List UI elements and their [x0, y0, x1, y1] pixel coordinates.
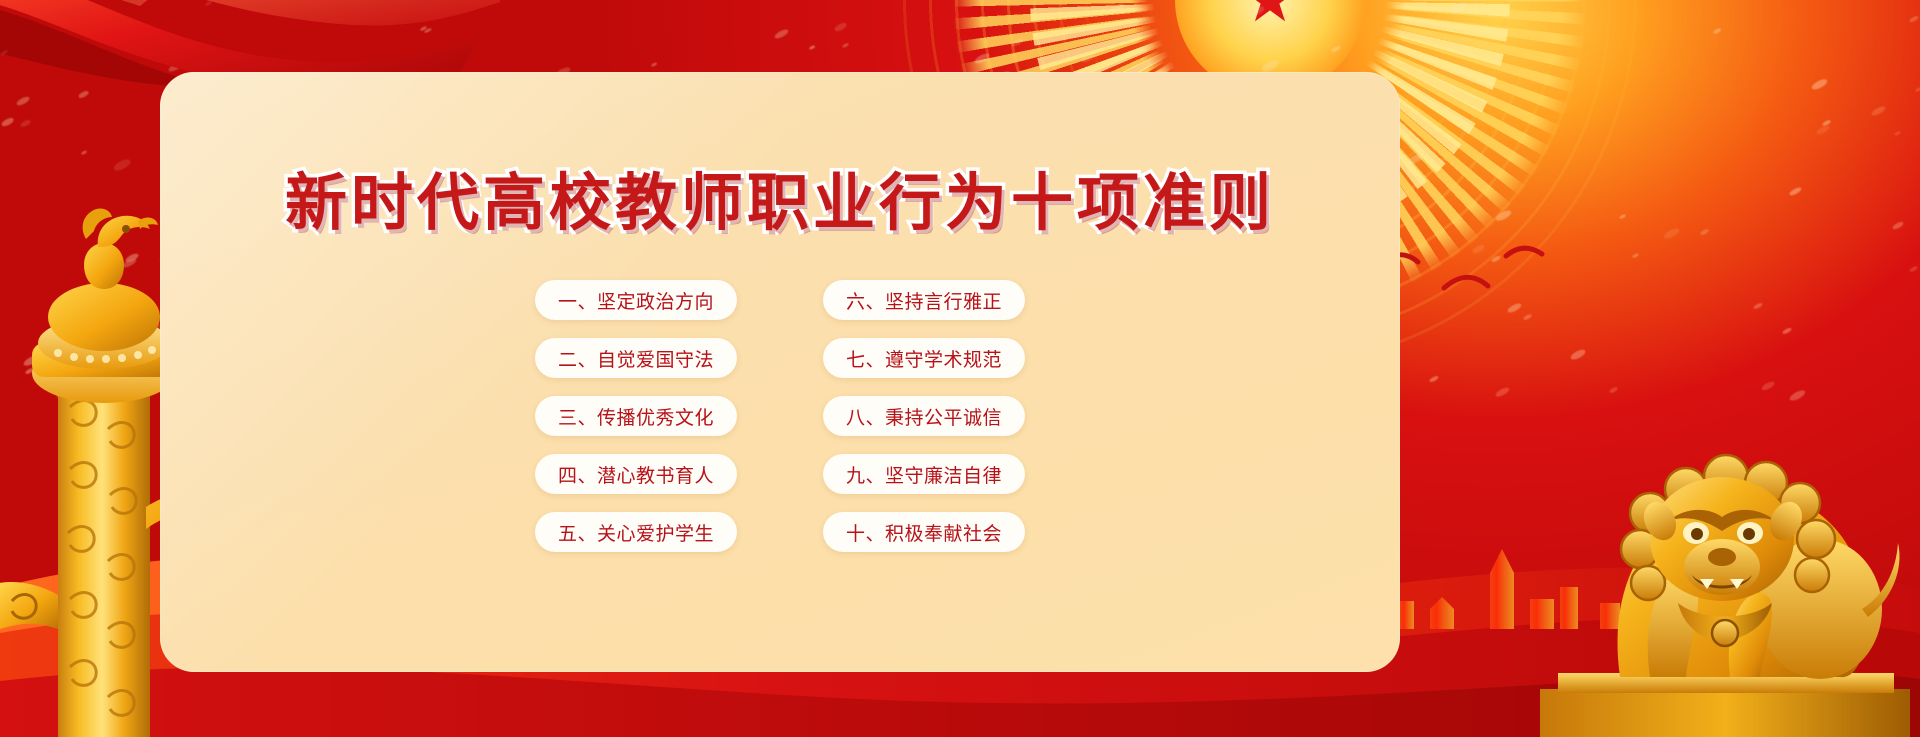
light-fleck — [774, 27, 790, 39]
light-fleck — [1782, 327, 1792, 335]
light-fleck — [1870, 105, 1886, 117]
light-fleck — [23, 353, 42, 368]
light-fleck — [1619, 213, 1627, 219]
light-fleck — [81, 150, 88, 155]
guideline-item-6[interactable]: 六、坚持言行雅正 — [823, 280, 1025, 320]
light-fleck — [1569, 348, 1587, 362]
light-fleck — [93, 10, 100, 15]
content-card: 新时代高校教师职业行为十项准则 一、坚定政治方向 二、自觉爱国守法 三、传播优秀… — [160, 72, 1400, 672]
light-fleck — [204, 0, 212, 6]
light-fleck — [1110, 2, 1126, 15]
patriotic-banner: 新时代高校教师职业行为十项准则 一、坚定政治方向 二、自觉爱国守法 三、传播优秀… — [0, 0, 1920, 737]
guideline-item-9[interactable]: 九、坚守廉洁自律 — [823, 454, 1025, 494]
light-fleck — [1428, 375, 1439, 383]
guideline-item-10[interactable]: 十、积极奉献社会 — [823, 512, 1025, 552]
light-fleck — [1662, 227, 1681, 241]
light-fleck — [56, 387, 72, 400]
light-fleck — [420, 25, 428, 31]
light-fleck — [1752, 302, 1763, 310]
light-fleck — [15, 95, 30, 107]
light-fleck — [833, 21, 848, 32]
light-fleck — [122, 256, 138, 269]
light-fleck — [19, 119, 31, 128]
light-fleck — [1700, 228, 1710, 236]
guideline-item-1[interactable]: 一、坚定政治方向 — [535, 280, 737, 320]
guidelines-grid: 一、坚定政治方向 二、自觉爱国守法 三、传播优秀文化 四、潜心教书育人 五、关心… — [160, 280, 1400, 552]
guideline-item-5[interactable]: 五、关心爱护学生 — [535, 512, 737, 552]
light-fleck — [651, 62, 658, 67]
light-fleck — [423, 27, 432, 34]
light-fleck — [1761, 380, 1776, 392]
light-fleck — [1713, 27, 1722, 34]
light-fleck — [125, 252, 140, 263]
light-fleck — [1491, 255, 1501, 263]
light-fleck — [1495, 208, 1514, 223]
light-fleck — [1915, 87, 1920, 93]
light-fleck — [1789, 388, 1807, 402]
golden-stone-lion — [1500, 317, 1920, 737]
light-fleck — [52, 299, 60, 306]
light-fleck — [1472, 243, 1486, 254]
light-fleck — [1816, 124, 1831, 136]
guideline-item-7[interactable]: 七、遵守学术规范 — [823, 338, 1025, 378]
light-fleck — [113, 158, 132, 173]
light-fleck — [1894, 130, 1901, 136]
light-fleck — [0, 116, 14, 127]
light-fleck — [1506, 301, 1522, 314]
left-column: 一、坚定政治方向 二、自觉爱国守法 三、传播优秀文化 四、潜心教书育人 五、关心… — [535, 280, 737, 552]
light-fleck — [841, 43, 848, 48]
light-fleck — [1, 49, 8, 55]
light-fleck — [1449, 0, 1468, 15]
light-fleck — [1011, 37, 1025, 48]
light-fleck — [25, 367, 35, 375]
five-pointed-star-icon — [1244, 0, 1296, 26]
light-fleck — [1789, 186, 1803, 197]
light-fleck — [1494, 385, 1511, 398]
light-fleck — [1407, 151, 1425, 165]
page-title: 新时代高校教师职业行为十项准则 — [160, 152, 1400, 242]
light-fleck — [1608, 386, 1618, 394]
light-fleck — [78, 89, 90, 98]
light-fleck — [1908, 15, 1919, 24]
light-fleck — [1822, 119, 1832, 127]
guideline-item-8[interactable]: 八、秉持公平诚信 — [823, 396, 1025, 436]
guideline-item-3[interactable]: 三、传播优秀文化 — [535, 396, 737, 436]
light-fleck — [1248, 5, 1267, 19]
light-fleck — [1407, 168, 1414, 173]
light-fleck — [1080, 52, 1095, 64]
light-fleck — [974, 52, 992, 66]
right-column: 六、坚持言行雅正 七、遵守学术规范 八、秉持公平诚信 九、坚守廉洁自律 十、积极… — [823, 280, 1025, 552]
guideline-item-4[interactable]: 四、潜心教书育人 — [535, 454, 737, 494]
light-fleck — [1909, 265, 1919, 273]
light-fleck — [808, 44, 814, 49]
light-fleck — [1523, 313, 1533, 321]
guideline-item-2[interactable]: 二、自觉爱国守法 — [535, 338, 737, 378]
light-fleck — [1632, 252, 1640, 258]
light-fleck — [112, 365, 126, 376]
light-fleck — [1891, 220, 1904, 230]
light-fleck — [1416, 66, 1424, 73]
light-fleck — [1331, 44, 1342, 52]
light-fleck — [1810, 78, 1828, 92]
